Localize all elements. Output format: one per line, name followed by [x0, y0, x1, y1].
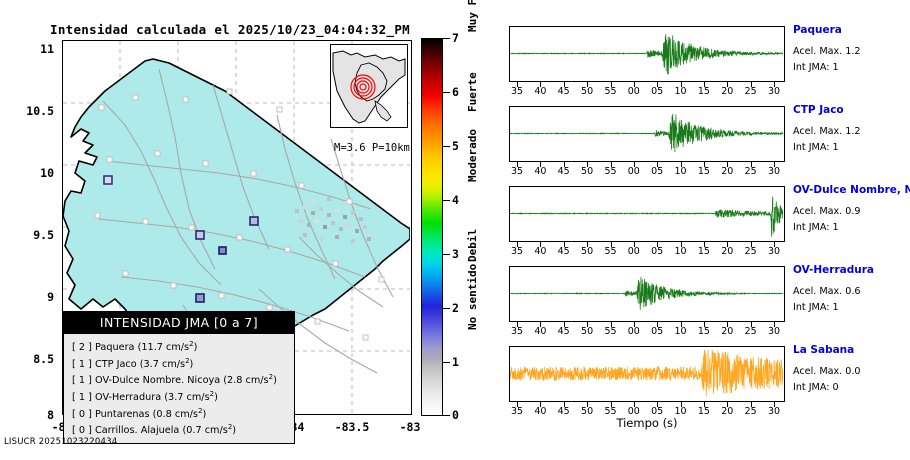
- intensity-legend: INTENSIDAD JMA [0 a 7] [ 2 ] Paquera (11…: [63, 311, 295, 444]
- locator-inset-map[interactable]: [330, 44, 408, 128]
- station-accel-5: Acel. Max. 0.0: [793, 366, 861, 377]
- axis-tick-label: 05: [645, 326, 669, 337]
- map-xtick-5: -83.5: [322, 420, 382, 434]
- legend-level: [ 0 ]: [72, 409, 92, 420]
- axis-tick-label: 20: [715, 326, 739, 337]
- axis-tick-label: 10: [669, 86, 693, 97]
- colorbar-category-moderado: Moderado: [466, 129, 479, 182]
- list-item: [ 0 ] Carrillos. Alajuela (0.7 cm/s2): [72, 421, 294, 438]
- colorbar-label-2: 2: [452, 301, 459, 315]
- axis-tick-label: 25: [739, 86, 763, 97]
- station-jma-5: Int JMA: 0: [793, 382, 839, 393]
- colorbar-tick: [443, 38, 450, 39]
- axis-tick-label: 15: [692, 246, 716, 257]
- legend-value: (2.8 cm/s: [223, 376, 268, 387]
- station-jma-1: Int JMA: 1: [793, 62, 839, 73]
- colorbar-tick: [443, 308, 450, 309]
- axis-tick-label: 00: [622, 326, 646, 337]
- axis-tick-label: 55: [599, 246, 623, 257]
- map-ytick-5: 8.5: [6, 352, 54, 366]
- axis-tick-label: 00: [622, 246, 646, 257]
- list-item: [ 1 ] CTP Jaco (3.7 cm/s2): [72, 355, 294, 372]
- footer-stamp: LISUCR 20251023220434: [4, 437, 117, 447]
- seismogram-trace-3[interactable]: [509, 186, 785, 242]
- colorbar-label-5: 5: [452, 139, 459, 153]
- axis-tick-label: 50: [575, 326, 599, 337]
- legend-level: [ 0 ]: [72, 425, 92, 436]
- axis-tick-label: 10: [669, 326, 693, 337]
- station-accel-4: Acel. Max. 0.6: [793, 286, 861, 297]
- axis-tick-label: 25: [739, 166, 763, 177]
- colorbar-category-muy-fuerte: Muy Fuerte: [466, 0, 479, 32]
- map-ytick-1: 10.5: [6, 104, 54, 118]
- inset-graphic: [331, 45, 407, 127]
- axis-tick-label: 05: [645, 166, 669, 177]
- axis-tick-label: 55: [599, 86, 623, 97]
- axis-tick-label: 55: [599, 166, 623, 177]
- axis-tick-label: 25: [739, 326, 763, 337]
- axis-tick-label: 45: [552, 326, 576, 337]
- legend-station: OV-Dulce Nombre. Nicoya: [95, 376, 220, 387]
- axis-tick-label: 20: [715, 166, 739, 177]
- axis-tick-label: 05: [645, 86, 669, 97]
- axis-tick-label: 00: [622, 86, 646, 97]
- axis-tick-label: 50: [575, 86, 599, 97]
- colorbar-tick: [443, 146, 450, 147]
- legend-station: Carrillos. Alajuela: [95, 425, 179, 436]
- legend-value: (3.7 cm/s: [140, 359, 185, 370]
- station-jma-2: Int JMA: 1: [793, 142, 839, 153]
- axis-tick-label: 40: [528, 166, 552, 177]
- axis-tick-label: 40: [528, 86, 552, 97]
- colorbar-category-fuerte: Fuerte: [466, 72, 479, 112]
- seismogram-xaxis-4: 354045505500051015202530: [509, 322, 785, 338]
- waveform-graphic: [510, 27, 783, 80]
- axis-tick-label: 30: [762, 166, 786, 177]
- axis-tick-label: 15: [692, 326, 716, 337]
- axis-tick-label: 45: [552, 166, 576, 177]
- legend-station: Paquera: [95, 342, 135, 353]
- seismogram-trace-2[interactable]: [509, 106, 785, 162]
- colorbar-label-0: 0: [452, 408, 459, 422]
- list-item: [ 2 ] Paquera (11.7 cm/s2): [72, 338, 294, 355]
- axis-tick-label: 50: [575, 246, 599, 257]
- waveform-graphic: [510, 107, 783, 160]
- station-name-4: OV-Herradura: [793, 264, 874, 276]
- page-title: Intensidad calculada el 2025/10/23_04:04…: [0, 22, 460, 37]
- intensity-colorbar: [421, 38, 443, 416]
- axis-tick-label: 00: [622, 166, 646, 177]
- legend-level: [ 1 ]: [72, 359, 92, 370]
- map-ytick-0: 11: [6, 42, 54, 56]
- station-name-1: Paquera: [793, 24, 842, 36]
- x-axis-title: Tiempo (s): [509, 416, 785, 430]
- list-item: [ 1 ] OV-Herradura (3.7 cm/s2): [72, 388, 294, 405]
- colorbar-label-7: 7: [452, 31, 459, 45]
- axis-tick-label: 35: [505, 246, 529, 257]
- axis-tick-label: 35: [505, 86, 529, 97]
- legend-value: (3.7 cm/s: [164, 392, 209, 403]
- legend-rows: [ 2 ] Paquera (11.7 cm/s2) [ 1 ] CTP Jac…: [64, 334, 294, 443]
- map-ytick-2: 10: [6, 166, 54, 180]
- axis-tick-label: 45: [552, 246, 576, 257]
- map-ytick-4: 9: [6, 290, 54, 304]
- legend-level: [ 2 ]: [72, 342, 92, 353]
- colorbar-label-4: 4: [452, 193, 459, 207]
- legend-value: (0.7 cm/s: [182, 425, 227, 436]
- colorbar-tick: [443, 254, 450, 255]
- magnitude-annotation: M=3.6 P=10km: [334, 142, 410, 154]
- axis-tick-label: 10: [669, 166, 693, 177]
- colorbar-label-1: 1: [452, 355, 459, 369]
- axis-tick-label: 40: [528, 246, 552, 257]
- axis-tick-label: 35: [505, 326, 529, 337]
- map-xtick-6: -83: [380, 420, 440, 434]
- legend-value: (0.8 cm/s: [153, 409, 198, 420]
- colorbar-tick: [443, 362, 450, 363]
- axis-tick-label: 45: [552, 86, 576, 97]
- colorbar-tick: [443, 92, 450, 93]
- legend-value: (11.7 cm/s: [138, 342, 190, 353]
- colorbar-label-6: 6: [452, 85, 459, 99]
- station-name-5: La Sabana: [793, 344, 854, 356]
- legend-station: Puntarenas: [95, 409, 150, 420]
- axis-tick-label: 55: [599, 326, 623, 337]
- station-name-3: OV-Dulce Nombre, Nico: [793, 184, 910, 196]
- colorbar-category-no-sentido: No sentido: [466, 264, 479, 330]
- axis-tick-label: 20: [715, 86, 739, 97]
- colorbar-tick: [443, 415, 450, 416]
- waveform-graphic: [510, 187, 783, 240]
- colorbar-label-3: 3: [452, 247, 459, 261]
- station-accel-3: Acel. Max. 0.9: [793, 206, 861, 217]
- seismogram-trace-1[interactable]: [509, 26, 785, 82]
- list-item: [ 1 ] OV-Dulce Nombre. Nicoya (2.8 cm/s2…: [72, 371, 294, 388]
- axis-tick-label: 50: [575, 166, 599, 177]
- axis-tick-label: 30: [762, 246, 786, 257]
- axis-tick-label: 10: [669, 246, 693, 257]
- seismogram-trace-5[interactable]: [509, 346, 785, 402]
- legend-station: CTP Jaco: [95, 359, 137, 370]
- legend-level: [ 1 ]: [72, 392, 92, 403]
- station-name-2: CTP Jaco: [793, 104, 844, 116]
- axis-tick-label: 25: [739, 246, 763, 257]
- colorbar-category-debil: Debil: [466, 229, 479, 262]
- station-accel-2: Acel. Max. 1.2: [793, 126, 861, 137]
- legend-title: INTENSIDAD JMA [0 a 7]: [64, 312, 294, 334]
- seismogram-xaxis-2: 354045505500051015202530: [509, 162, 785, 178]
- axis-tick-label: 35: [505, 166, 529, 177]
- legend-station: OV-Herradura: [95, 392, 161, 403]
- axis-tick-label: 15: [692, 86, 716, 97]
- colorbar-tick: [443, 200, 450, 201]
- waveform-graphic: [510, 347, 783, 400]
- station-jma-4: Int JMA: 1: [793, 302, 839, 313]
- seismogram-xaxis-1: 354045505500051015202530: [509, 82, 785, 98]
- seismogram-xaxis-3: 354045505500051015202530: [509, 242, 785, 258]
- axis-tick-label: 30: [762, 86, 786, 97]
- list-item: [ 0 ] Puntarenas (0.8 cm/s2): [72, 405, 294, 422]
- station-jma-3: Int JMA: 1: [793, 222, 839, 233]
- legend-level: [ 1 ]: [72, 376, 92, 387]
- axis-tick-label: 15: [692, 166, 716, 177]
- axis-tick-label: 05: [645, 246, 669, 257]
- seismogram-trace-4[interactable]: [509, 266, 785, 322]
- axis-tick-label: 40: [528, 326, 552, 337]
- station-accel-1: Acel. Max. 1.2: [793, 46, 861, 57]
- axis-tick-label: 20: [715, 246, 739, 257]
- waveform-graphic: [510, 267, 783, 320]
- map-ytick-3: 9.5: [6, 228, 54, 242]
- axis-tick-label: 30: [762, 326, 786, 337]
